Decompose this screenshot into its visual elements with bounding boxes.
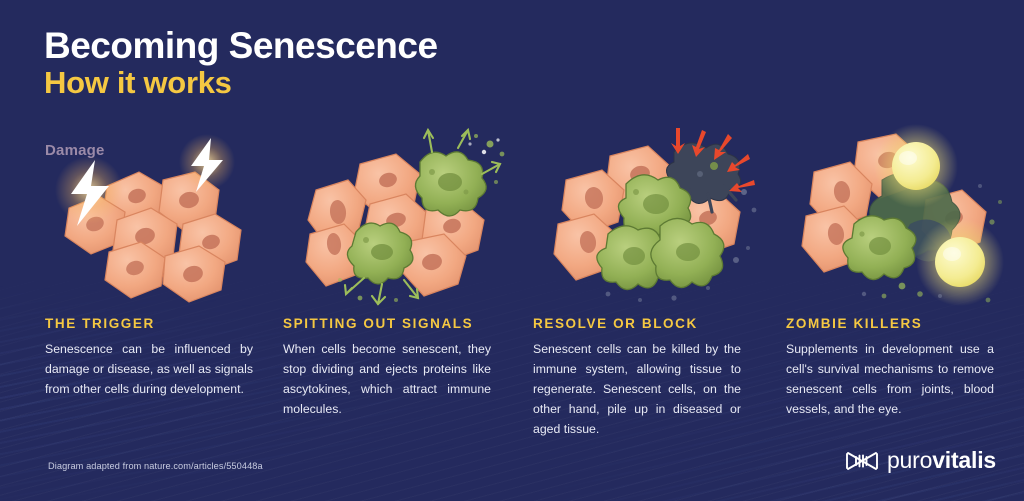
source-credit: Diagram adapted from nature.com/articles… [48,461,263,471]
panel-heading-zombie-killers: ZOMBIE KILLERS [786,316,994,331]
senescent-cell [843,216,916,280]
illustration-resolve-or-block [548,128,778,308]
panel-the-trigger: THE TRIGGER Senescence can be influenced… [45,316,253,400]
page-subtitle: How it works [44,66,438,101]
glowing-pill-icon [916,218,1004,306]
panel-body-the-trigger: Senescence can be influenced by damage o… [45,340,253,400]
panel-heading-the-trigger: THE TRIGGER [45,316,253,331]
infographic-root: Becoming Senescence How it works Damage [0,0,1024,501]
panel-body-resolve-or-block: Senescent cells can be killed by the imm… [533,340,741,440]
illustration-spitting-out-signals [300,128,530,308]
title-block: Becoming Senescence How it works [44,26,438,101]
panel-zombie-killers: ZOMBIE KILLERS Supplements in developmen… [786,316,994,420]
glowing-pill-icon [874,124,958,208]
brand-logo: purovitalis [845,449,996,472]
senescent-cell [415,152,486,216]
panel-heading-resolve-or-block: RESOLVE OR BLOCK [533,316,741,331]
dna-helix-icon [845,451,879,471]
panel-body-zombie-killers: Supplements in development use a cell's … [786,340,994,420]
brand-logo-text: purovitalis [887,449,996,472]
brand-name-light: puro [887,447,932,473]
cell-cluster [554,143,741,290]
particle-icon [468,138,499,154]
panel-heading-spitting-out-signals: SPITTING OUT SIGNALS [283,316,491,331]
page-title: Becoming Senescence [44,26,438,66]
panel-body-spitting-out-signals: When cells become senescent, they stop d… [283,340,491,420]
illustration-zombie-killers [792,128,1022,308]
illustration-the-trigger [55,128,285,308]
brand-name-bold: vitalis [932,447,996,473]
cell-cluster [306,152,486,296]
panel-resolve-or-block: RESOLVE OR BLOCK Senescent cells can be … [533,316,741,440]
panel-spitting-out-signals: SPITTING OUT SIGNALS When cells become s… [283,316,491,420]
